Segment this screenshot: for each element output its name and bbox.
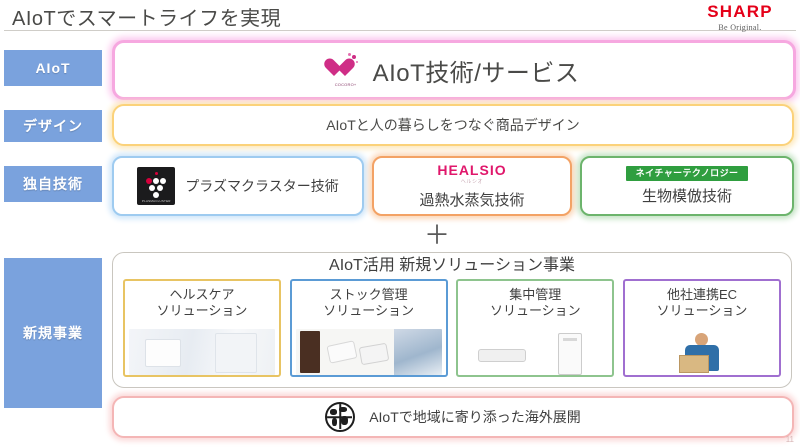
tech-card-plasmacluster: PLASMACLUSTER プラズマクラスター技術 (112, 156, 364, 216)
solution-card-healthcare[interactable]: ヘルスケア ソリューション (123, 279, 281, 377)
aiot-service-band: COCORO+ AIoT技術/サービス (112, 40, 796, 100)
globe-icon (325, 402, 355, 432)
solution-card-stock[interactable]: ストック管理 ソリューション (290, 279, 448, 377)
sharp-wordmark: SHARP (688, 3, 792, 20)
solution-card-list: ヘルスケア ソリューション ストック管理 ソリューション 集中管理 ソリューショ… (123, 279, 781, 377)
title-divider (4, 30, 796, 31)
solution-photo-central (462, 329, 608, 375)
design-label: AIoTと人の暮らしをつなぐ商品デザイン (326, 115, 580, 135)
solution-title-stock: ストック管理 ソリューション (323, 287, 414, 320)
solution-photo-stock (296, 329, 442, 375)
nature-technology-badge: ネイチャーテクノロジー (626, 166, 749, 182)
plasmacluster-logo-caption: PLASMACLUSTER (137, 199, 175, 203)
rail-label-design: デザイン (4, 110, 102, 142)
healsio-logo-sub: ヘルシオ (461, 178, 483, 185)
rail-label-tech: 独自技術 (4, 166, 102, 202)
sharp-tagline: Be Original. (688, 23, 792, 32)
slide: AIoTでスマートライフを実現 SHARP Be Original. AIoT … (0, 0, 800, 448)
solution-title-ec: 他社連携EC ソリューション (657, 287, 748, 320)
tech-label-plasmacluster: プラズマクラスター技術 (185, 176, 338, 196)
tech-card-nature: ネイチャーテクノロジー 生物模倣技術 (580, 156, 794, 216)
global-expansion-label: AIoTで地域に寄り添った海外展開 (369, 407, 581, 427)
solution-title-central: 集中管理 ソリューション (490, 287, 581, 320)
solution-card-ec[interactable]: 他社連携EC ソリューション (623, 279, 781, 377)
solution-title-healthcare: ヘルスケア ソリューション (157, 287, 248, 320)
tech-card-healsio: HEALSIO ヘルシオ 過熱水蒸気技術 (372, 156, 572, 216)
plasmacluster-logo-icon: PLASMACLUSTER (137, 167, 175, 205)
tech-label-healsio: 過熱水蒸気技術 (419, 189, 524, 210)
solution-card-central[interactable]: 集中管理 ソリューション (456, 279, 614, 377)
global-expansion-band: AIoTで地域に寄り添った海外展開 (112, 396, 794, 438)
cocoro-plus-heart-icon: COCORO+ (329, 53, 363, 87)
page-title: AIoTでスマートライフを実現 (12, 2, 281, 31)
solutions-heading: AIoT活用 新規ソリューション事業 (113, 251, 791, 275)
tech-label-nature: 生物模倣技術 (642, 185, 732, 206)
aiot-service-label: AIoT技術/サービス (373, 53, 580, 88)
solution-photo-healthcare (129, 329, 275, 375)
design-band: AIoTと人の暮らしをつなぐ商品デザイン (112, 104, 794, 146)
solutions-panel: AIoT活用 新規ソリューション事業 ヘルスケア ソリューション ストック管理 … (112, 252, 792, 388)
healsio-logo: HEALSIO (437, 163, 506, 177)
sharp-logo: SHARP Be Original. (688, 3, 792, 32)
rail-label-business: 新規事業 (4, 258, 102, 408)
solution-photo-ec (629, 329, 775, 375)
plus-operator: ＋ (424, 222, 450, 248)
rail-label-aiot: AIoT (4, 50, 102, 86)
page-number: 11 (786, 435, 794, 444)
cocoro-plus-caption: COCORO+ (329, 82, 363, 87)
